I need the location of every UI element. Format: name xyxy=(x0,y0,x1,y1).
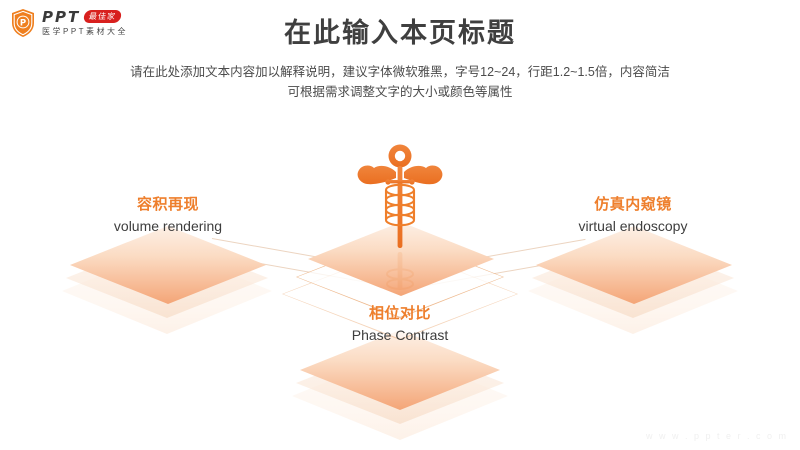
label-volume-rendering[interactable]: 容积再现 volume rendering xyxy=(58,196,278,235)
footer-watermark: w w w . p p t e r . c o m xyxy=(646,431,788,441)
subtitle-line-2: 可根据需求调整文字的大小或颜色等属性 xyxy=(0,82,800,102)
label-right-en: virtual endoscopy xyxy=(518,218,748,236)
diagram-stage: 容积再现 volume rendering 仿真内窥镜 virtual endo… xyxy=(0,130,800,420)
label-virtual-endoscopy[interactable]: 仿真内窥镜 virtual endoscopy xyxy=(518,196,748,235)
label-phase-contrast[interactable]: 相位对比 Phase Contrast xyxy=(290,305,510,344)
label-right-cn: 仿真内窥镜 xyxy=(518,196,748,215)
label-left-cn: 容积再现 xyxy=(58,196,278,215)
subtitle-line-1: 请在此处添加文本内容加以解释说明，建议字体微软雅黑，字号12~24，行距1.2~… xyxy=(0,62,800,82)
label-bottom-cn: 相位对比 xyxy=(290,305,510,324)
label-left-en: volume rendering xyxy=(58,218,278,236)
label-bottom-en: Phase Contrast xyxy=(290,327,510,345)
page-title: 在此输入本页标题 xyxy=(0,16,800,50)
page-subtitle: 请在此处添加文本内容加以解释说明，建议字体微软雅黑，字号12~24，行距1.2~… xyxy=(0,62,800,102)
caduceus-icon xyxy=(352,142,448,257)
